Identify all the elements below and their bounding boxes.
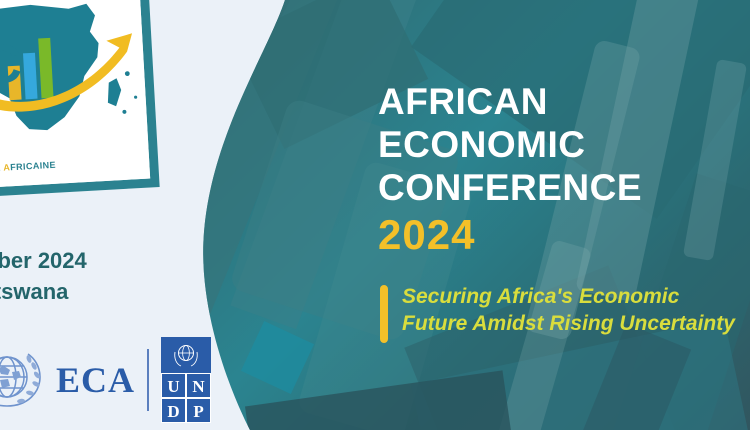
aec-africa-map-logo-icon: AEC AFRICAN ECONOMIC CONFERENCE [0, 0, 150, 151]
tagline-accent-bar [380, 285, 388, 343]
tagline-block: Securing Africa's Economic Future Amidst… [380, 283, 735, 343]
aec-logo-card: AEC AFRICAN ECONOMIC CONFERENCE E CONOMI… [0, 0, 160, 201]
partner-logos: ECA U N D P [0, 337, 211, 423]
event-date-text: ovember 2024 [0, 245, 260, 276]
headline-block: AFRICAN ECONOMIC CONFERENCE 2024 [378, 80, 750, 259]
logo-french-tail: FRICAINE [10, 160, 56, 173]
tagline-line-2: Future Amidst Rising Uncertainty [402, 310, 735, 337]
svg-text:AEC: AEC [0, 34, 23, 100]
headline-line-1: AFRICAN [378, 80, 750, 123]
conference-banner: AFRICAN ECONOMIC CONFERENCE 2024 Securin… [0, 0, 750, 430]
tagline-line-1: Securing Africa's Economic [402, 283, 735, 310]
un-eca-logo: ECA [0, 344, 135, 416]
undp-logo: U N D P [161, 337, 211, 423]
bg-shape-11 [241, 321, 314, 394]
event-date-location: ovember 2024 e, Botswana [0, 245, 260, 307]
undp-letter-n: N [186, 373, 211, 398]
tagline-text: Securing Africa's Economic Future Amidst… [402, 283, 735, 337]
undp-un-globe-icon [173, 342, 199, 368]
bg-shape-16 [245, 370, 515, 430]
undp-letter-p: P [186, 398, 211, 423]
logo-divider [147, 349, 149, 411]
headline-line-3: CONFERENCE [378, 166, 750, 209]
undp-letter-d: D [161, 398, 186, 423]
undp-letter-u: U [161, 373, 186, 398]
event-year: 2024 [378, 211, 750, 259]
eca-label: ECA [56, 362, 135, 398]
logo-card-inner: AEC AFRICAN ECONOMIC CONFERENCE E CONOMI… [0, 0, 150, 191]
united-nations-emblem-icon [0, 344, 50, 416]
logo-french-subtitle: E CONOMIQUE AFRICAINE [0, 160, 56, 177]
undp-letter-grid: U N D P [161, 373, 211, 423]
headline-line-2: ECONOMIC [378, 123, 750, 166]
event-location-text: e, Botswana [0, 276, 260, 307]
undp-emblem-icon [161, 337, 211, 373]
